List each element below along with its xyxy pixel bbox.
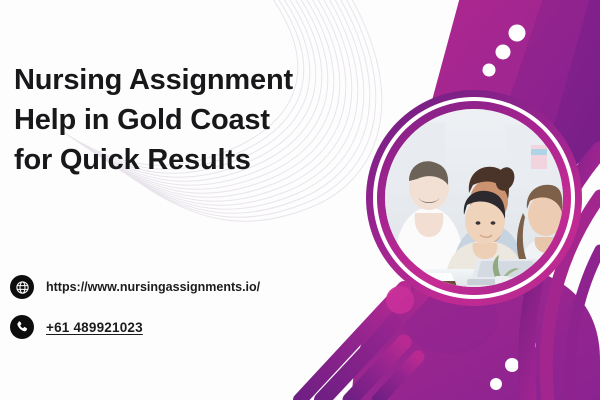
globe-icon	[10, 275, 34, 299]
contact-row-phone[interactable]: +61 489921023	[10, 315, 330, 339]
headline-line-1: Nursing Assignment	[14, 64, 293, 96]
phone-icon	[10, 315, 34, 339]
phone-number[interactable]: +61 489921023	[46, 320, 143, 335]
contact-block: https://www.nursingassignments.io/ +61 4…	[10, 275, 330, 355]
promo-banner: Nursing Assignment Help in Gold Coast fo…	[0, 0, 600, 400]
contact-row-website[interactable]: https://www.nursingassignments.io/	[10, 275, 330, 299]
website-url[interactable]: https://www.nursingassignments.io/	[46, 280, 260, 294]
headline-line-2: Help in Gold Coast	[14, 104, 270, 136]
hero-photo	[366, 90, 582, 306]
headline-line-3: for Quick Results	[14, 144, 251, 176]
page-title: Nursing Assignment Help in Gold Coast fo…	[14, 60, 324, 180]
photo-image	[385, 109, 563, 287]
text-content: Nursing Assignment Help in Gold Coast fo…	[0, 0, 340, 400]
